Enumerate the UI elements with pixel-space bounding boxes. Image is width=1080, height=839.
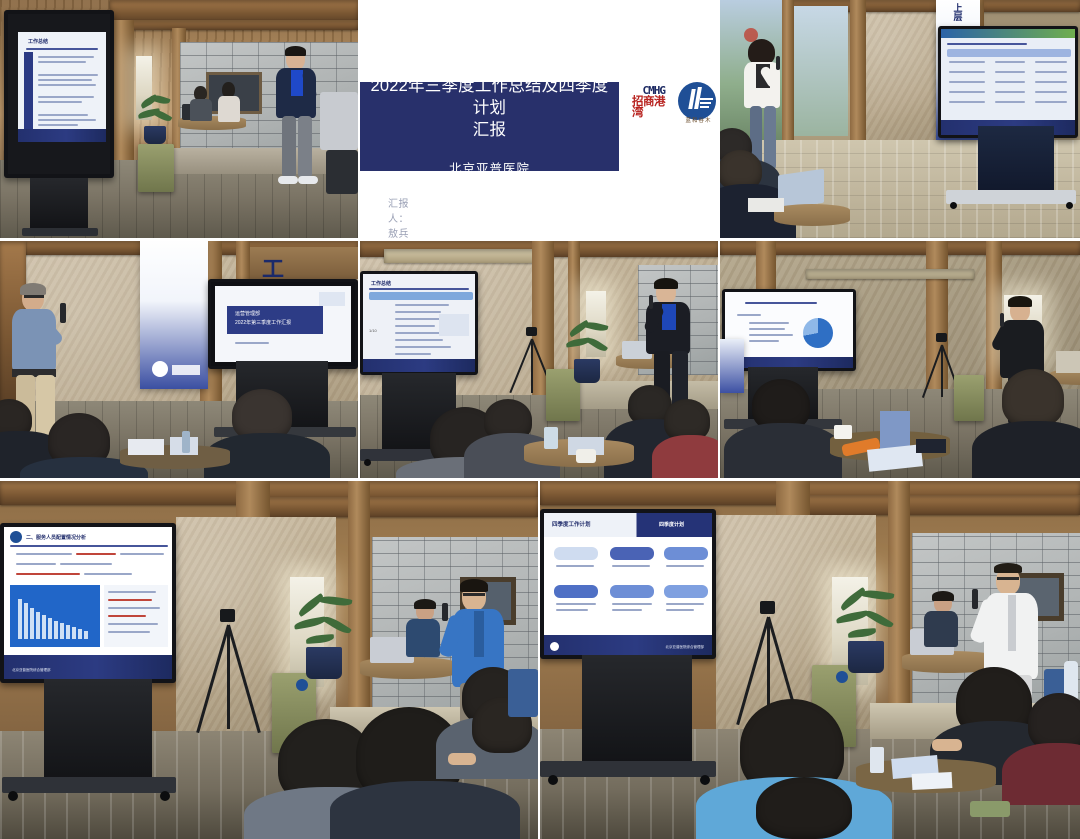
slide-title-line-2: 汇报 (360, 120, 619, 142)
photo-woman-presenting-right: 上层 (720, 0, 1080, 238)
photo-blue-jacket-presenter-chart: 二、服务人员配置情况分析 (0, 481, 538, 839)
logo-wordmark: CMHG 招商港湾 (632, 85, 675, 120)
photo-white-jacket-presenter-diagram: 四季度工作计划 四季度计划 (540, 481, 1080, 839)
logo-emblem-caption: 蓝和谷木 (680, 116, 716, 124)
presentation-title-slide: 2022年三季度工作总结及四季度计划 汇报 北京亚普医院 汇报人：敖兵 CMHG… (360, 0, 718, 238)
display-screen: 工作总结 1/10 (360, 271, 478, 375)
photo-presenter-with-pie-chart (720, 241, 1080, 478)
logo-chinese-name: 招商港湾 (632, 97, 675, 120)
display-screen: 运营管理部 2022年第三季度工作汇报 (208, 279, 358, 369)
slide-subtitle: 北京亚普医院 (449, 158, 530, 177)
photo-older-man-with-banner: 工作会议 运营管理部 2022年第三季度工作汇报 (0, 241, 358, 478)
title-box: 2022年三季度工作总结及四季度计划 汇报 北京亚普医院 (360, 82, 619, 171)
display-screen: 四季度工作计划 四季度计划 (540, 509, 716, 659)
display-screen (938, 26, 1078, 138)
photo-presenter-at-screen-left: 工作总结 (0, 0, 358, 238)
company-logo: CMHG 招商港湾 蓝和谷木 (632, 82, 718, 122)
logo-acronym: CMHG (642, 85, 665, 96)
logo-emblem-icon: 蓝和谷木 (678, 82, 718, 122)
slide-title-line-1: 2022年三季度工作总结及四季度计划 (360, 76, 619, 120)
photo-collage: 工作总结 (0, 0, 1080, 839)
slide-presenter-line: 汇报人：敖兵 (388, 195, 409, 238)
display-screen: 二、服务人员配置情况分析 (0, 523, 176, 683)
photo-young-man-presenting-center: 工作总结 1/10 (360, 241, 718, 478)
